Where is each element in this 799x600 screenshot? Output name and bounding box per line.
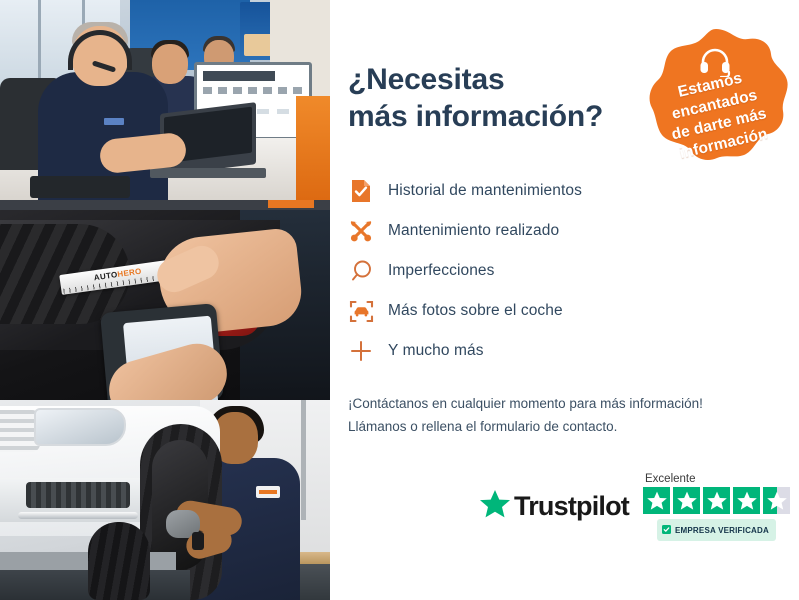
feature-list: Historial de mantenimientos M (348, 171, 773, 371)
verified-check-icon (662, 521, 671, 539)
photo-column: AUTOHERO (0, 0, 330, 600)
feature-item-imperfecciones: Imperfecciones (348, 251, 773, 291)
car-viewfinder-icon (348, 298, 374, 324)
magnifier-icon (348, 258, 374, 284)
rating-label: Excelente (645, 473, 696, 485)
feature-label: Más fotos sobre el coche (388, 302, 563, 320)
contact-line2: Llámanos o rellena el formulario de cont… (348, 416, 773, 439)
feature-label: Y mucho más (388, 342, 484, 360)
mechanic-tyre-photo (0, 400, 330, 600)
feature-label: Historial de mantenimientos (388, 182, 582, 200)
verified-text: EMPRESA VERIFICADA (675, 526, 769, 535)
information-banner: AUTOHERO (0, 0, 799, 600)
star-filled (643, 487, 670, 514)
contact-line1: ¡Contáctanos en cualquier momento para m… (348, 393, 773, 416)
feature-item-mantenimiento: Mantenimiento realizado (348, 211, 773, 251)
content-panel: ¿Necesitas más información? Estamos enca… (330, 0, 799, 600)
star-rating (643, 487, 790, 514)
feature-label: Imperfecciones (388, 262, 495, 280)
star-filled (703, 487, 730, 514)
tools-cross-icon (348, 218, 374, 244)
trustpilot-wordmark: Trustpilot (514, 491, 629, 522)
page-title: ¿Necesitas más información? (348, 62, 648, 135)
verified-badge: EMPRESA VERIFICADA (657, 519, 776, 541)
trustpilot-logo: Trustpilot (480, 489, 629, 523)
feature-item-fotos: Más fotos sobre el coche (348, 291, 773, 331)
star-filled (673, 487, 700, 514)
star-filled (733, 487, 760, 514)
contact-text: ¡Contáctanos en cualquier momento para m… (348, 393, 773, 438)
trustpilot-rating: Excelente (643, 473, 790, 541)
call-center-agents-photo (0, 0, 330, 200)
star-half (763, 487, 790, 514)
feature-label: Mantenimiento realizado (388, 222, 559, 240)
trustpilot-star-icon (480, 489, 510, 523)
trustpilot-widget[interactable]: Trustpilot Excelente (480, 473, 790, 541)
promo-badge: Estamos encantados de darte más informac… (640, 27, 792, 187)
feature-item-mucho-mas: Y mucho más (348, 331, 773, 371)
page-title-line2: más información? (348, 99, 648, 136)
page-title-line1: ¿Necesitas (348, 63, 504, 96)
document-check-icon (348, 178, 374, 204)
bumper-inspection-photo: AUTOHERO (0, 200, 330, 400)
plus-icon (348, 338, 374, 364)
